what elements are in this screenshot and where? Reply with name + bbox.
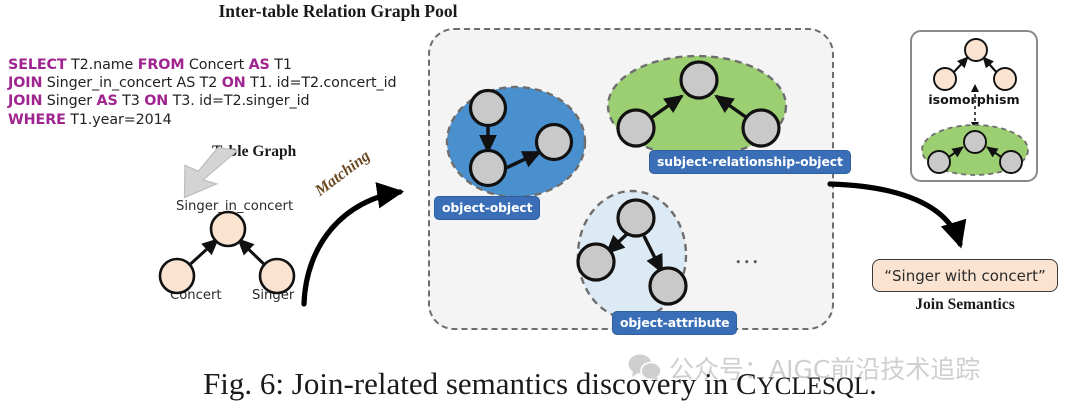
isomorphism-bottom-graph (918, 120, 1032, 178)
tag-subject-relationship-object[interactable]: subject-relationship-object (649, 150, 851, 174)
cluster-object-object[interactable] (444, 80, 594, 210)
join-semantics-label: Join Semantics (872, 296, 1058, 314)
sql-keyword: WHERE (8, 112, 66, 128)
sql-text: Concert (184, 57, 248, 73)
sql-keyword: FROM (138, 57, 185, 73)
sql-text: Singer_in_concert AS T2 (42, 75, 221, 91)
cluster-object-attribute[interactable] (574, 188, 694, 328)
caption-suffix: . (869, 366, 877, 401)
sql-keyword: AS (249, 57, 270, 73)
sql-keyword: SELECT (8, 57, 67, 73)
figure-caption: Fig. 6: Join-related semantics discovery… (0, 366, 1080, 402)
sql-text: T3. id=T2.singer_id (168, 93, 309, 109)
pool-title: Inter-table Relation Graph Pool (0, 1, 1080, 22)
tag-object-attribute[interactable]: object-attribute (612, 311, 737, 335)
sql-keyword: JOIN (8, 75, 42, 91)
caption-system-rest: YCLESQL (757, 373, 870, 400)
isomorphism-top-graph (930, 38, 1022, 90)
sql-line: SELECT T2.name FROM Concert AS T1 (8, 56, 418, 74)
table-graph-pointer-arrow (178, 145, 248, 203)
tag-object-object[interactable]: object-object (434, 196, 540, 220)
sql-text: Singer (42, 93, 96, 109)
sql-text: T1 (270, 57, 292, 73)
pool-ellipsis: ... (735, 240, 761, 270)
caption-prefix: Fig. 6: Join-related semantics discovery… (203, 366, 736, 401)
sql-keyword: ON (144, 93, 168, 109)
sql-keyword: AS (97, 93, 118, 109)
sql-text: T3 (118, 93, 145, 109)
caption-system-initial: C (736, 366, 757, 401)
sql-line: JOIN Singer_in_concert AS T2 ON T1. id=T… (8, 74, 418, 92)
sql-text: T2.name (67, 57, 138, 73)
join-semantics-box: “Singer with concert” (872, 259, 1058, 292)
sql-text: T1.year=2014 (66, 112, 172, 128)
caption-system-name: CYCLESQL (736, 373, 869, 400)
sql-keyword: ON (222, 75, 246, 91)
sql-line: JOIN Singer AS T3 ON T3. id=T2.singer_id (8, 92, 418, 110)
pool-to-join-semantics-arrow (826, 178, 986, 264)
cluster-subject-relationship-object[interactable] (604, 50, 794, 165)
sql-keyword: JOIN (8, 93, 42, 109)
sql-query-block: SELECT T2.name FROM Concert AS T1JOIN Si… (8, 56, 418, 129)
pool-title-text: Inter-table Relation Graph Pool (219, 1, 458, 21)
matching-arrow (292, 178, 432, 308)
isomorphism-label: isomorphism (910, 92, 1038, 107)
sql-line: WHERE T1.year=2014 (8, 111, 418, 129)
table-graph-diagram (155, 212, 315, 292)
sql-text: T1. id=T2.concert_id (246, 75, 397, 91)
join-semantics-value: “Singer with concert” (884, 267, 1045, 285)
